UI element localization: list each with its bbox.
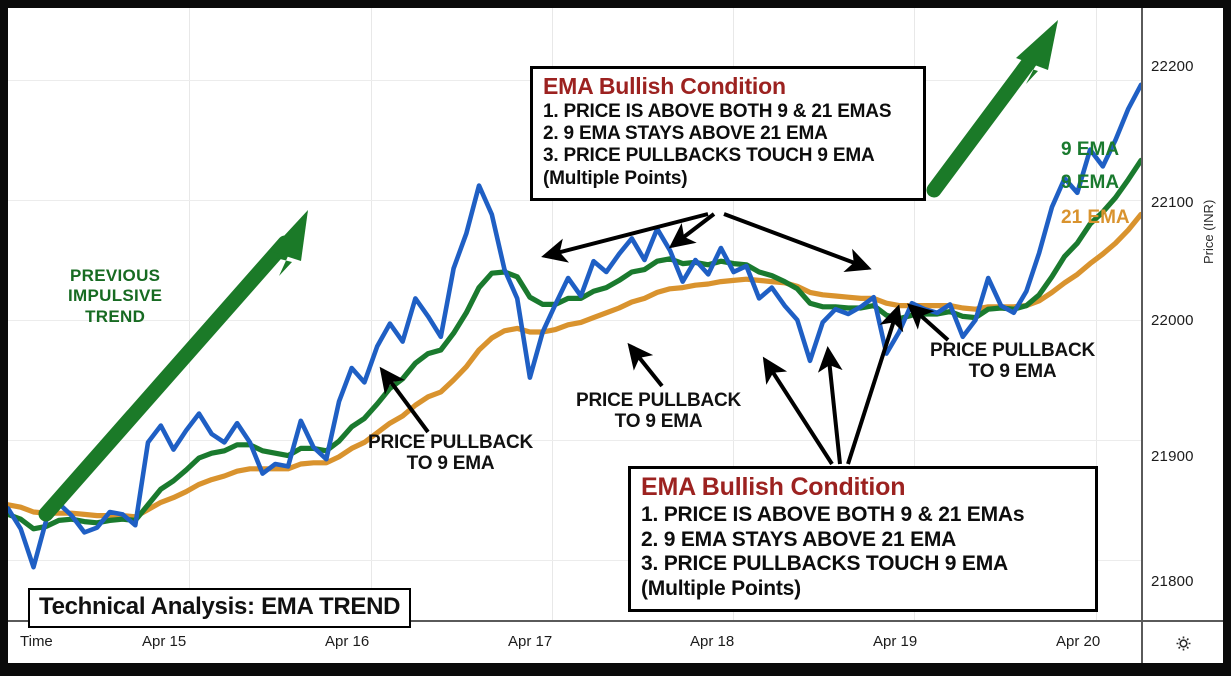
y-axis: 22200 22100 22000 21900 21800 Price (INR…: [1141, 8, 1223, 620]
callout-top-line-3: 3. PRICE PULLBACKS TOUCH 9 EMA: [543, 145, 913, 167]
y-tick-label: 21900: [1151, 448, 1194, 465]
callout-top-line-2: 2. 9 EMA STAYS ABOVE 21 EMA: [543, 123, 913, 145]
y-tick-label: 21800: [1151, 573, 1194, 590]
chart-canvas: 22200 22100 22000 21900 21800 Price (INR…: [8, 8, 1223, 663]
x-tick-label: Apr 20: [1056, 633, 1100, 650]
y-tick-label: 22100: [1151, 194, 1194, 211]
x-tick-label: Apr 18: [690, 633, 734, 650]
pullback-3-line-1: PRICE PULLBACK: [930, 340, 1095, 361]
x-tick-label: Apr 17: [508, 633, 552, 650]
legend-label-9ema-1: 9 EMA: [1061, 139, 1119, 161]
pullback-3-line-2: TO 9 EMA: [930, 361, 1095, 382]
x-tick-label: Apr 19: [873, 633, 917, 650]
pullback-2-line-2: TO 9 EMA: [576, 411, 741, 432]
grid-line-vertical: [189, 8, 190, 620]
callout-bottom-line-3: 3. PRICE PULLBACKS TOUCH 9 EMA: [641, 552, 1085, 577]
legend-label-9ema-2: 9 EMA: [1061, 172, 1119, 194]
x-tick-label: Apr 15: [142, 633, 186, 650]
gear-icon: [1174, 634, 1193, 653]
previous-trend-annotation: PREVIOUS IMPULSIVE TREND: [68, 266, 162, 327]
grid-line-vertical: [371, 8, 372, 620]
callout-top-line-1: 1. PRICE IS ABOVE BOTH 9 & 21 EMAS: [543, 101, 913, 123]
screenshot-root: 22200 22100 22000 21900 21800 Price (INR…: [0, 0, 1231, 676]
callout-top-title: EMA Bullish Condition: [543, 73, 913, 100]
pullback-1-line-2: TO 9 EMA: [368, 453, 533, 474]
previous-trend-line-2: IMPULSIVE: [68, 286, 162, 306]
callout-box-bottom: EMA Bullish Condition 1. PRICE IS ABOVE …: [628, 466, 1098, 612]
callout-bottom-line-4: (Multiple Points): [641, 577, 1085, 602]
y-axis-label: Price (INR): [1201, 200, 1216, 264]
callout-bottom-line-1: 1. PRICE IS ABOVE BOTH 9 & 21 EMAs: [641, 503, 1085, 528]
callout-bottom-title: EMA Bullish Condition: [641, 473, 1085, 502]
previous-trend-line-3: TREND: [68, 307, 162, 327]
chart-title-box: Technical Analysis: EMA TREND: [28, 588, 411, 628]
x-axis-name: Time: [20, 633, 53, 650]
x-tick-label: Apr 16: [325, 633, 369, 650]
pullback-1-line-1: PRICE PULLBACK: [368, 432, 533, 453]
grid-line-horizontal: [8, 320, 1141, 321]
y-tick-label: 22200: [1151, 58, 1194, 75]
grid-line-horizontal: [8, 440, 1141, 441]
pullback-annotation-3: PRICE PULLBACK TO 9 EMA: [930, 340, 1095, 383]
previous-trend-line-1: PREVIOUS: [68, 266, 162, 286]
callout-top-line-4: (Multiple Points): [543, 168, 913, 190]
chart-settings-button[interactable]: [1141, 622, 1223, 663]
legend-label-21ema: 21 EMA: [1061, 207, 1130, 229]
pullback-2-line-1: PRICE PULLBACK: [576, 390, 741, 411]
callout-box-top: EMA Bullish Condition 1. PRICE IS ABOVE …: [530, 66, 926, 201]
pullback-annotation-1: PRICE PULLBACK TO 9 EMA: [368, 432, 533, 475]
chart-title: Technical Analysis: EMA TREND: [39, 593, 400, 620]
callout-bottom-line-2: 2. 9 EMA STAYS ABOVE 21 EMA: [641, 528, 1085, 553]
pullback-annotation-2: PRICE PULLBACK TO 9 EMA: [576, 390, 741, 433]
y-tick-label: 22000: [1151, 312, 1194, 329]
